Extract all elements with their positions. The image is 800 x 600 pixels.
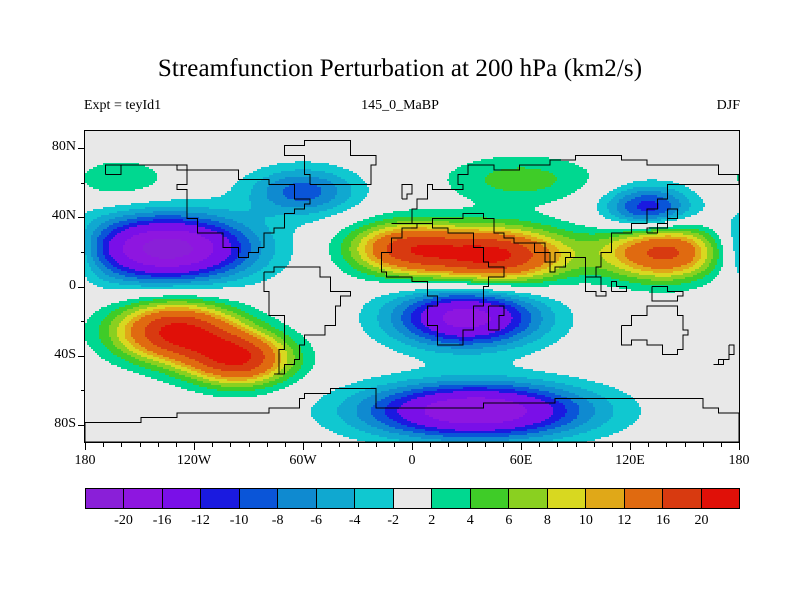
y-axis-tick (78, 287, 85, 288)
colorbar-tick-label: 12 (604, 513, 644, 529)
x-axis-tick (521, 443, 522, 450)
colorbar-swatch (86, 489, 123, 508)
colorbar-swatch (431, 489, 469, 508)
colorbar-tick-label: 10 (566, 513, 606, 529)
x-axis-minor-tick (121, 443, 122, 447)
colorbar-tick-label: 20 (681, 513, 721, 529)
x-axis-tick-label: 180 (55, 453, 115, 469)
x-axis-minor-tick (594, 443, 595, 447)
x-axis-minor-tick (158, 443, 159, 447)
x-axis-tick (630, 443, 631, 450)
colorbar-swatch (470, 489, 508, 508)
y-axis-minor-tick (81, 252, 85, 253)
colorbar-tick-label: 16 (643, 513, 683, 529)
colorbar-tick-label: 6 (489, 513, 529, 529)
y-axis-minor-tick (81, 183, 85, 184)
x-axis-tick-label: 0 (382, 453, 442, 469)
y-axis-tick-label: 0 (36, 278, 76, 294)
x-axis-minor-tick (648, 443, 649, 447)
y-axis-tick-label: 80N (36, 139, 76, 155)
x-axis-minor-tick (430, 443, 431, 447)
y-axis-tick (78, 148, 85, 149)
x-axis-minor-tick (721, 443, 722, 447)
y-axis-tick (78, 217, 85, 218)
colorbar-tick-label: -16 (142, 513, 182, 529)
y-axis-tick (78, 425, 85, 426)
colorbar-swatch (123, 489, 161, 508)
x-axis-minor-tick (321, 443, 322, 447)
x-axis-minor-tick (612, 443, 613, 447)
x-axis-tick-label: 180 (709, 453, 769, 469)
colorbar (85, 488, 740, 509)
x-axis-tick (739, 443, 740, 450)
figure-canvas: Streamfunction Perturbation at 200 hPa (… (0, 0, 800, 600)
x-axis-minor-tick (685, 443, 686, 447)
colorbar-swatch (508, 489, 546, 508)
x-axis-tick (412, 443, 413, 450)
colorbar-tick-label: 4 (450, 513, 490, 529)
colorbar-tick-label: -12 (181, 513, 221, 529)
x-axis-minor-tick (376, 443, 377, 447)
x-axis-minor-tick (448, 443, 449, 447)
colorbar-swatch (585, 489, 623, 508)
colorbar-tick-label: -6 (296, 513, 336, 529)
colorbar-swatch (277, 489, 315, 508)
colorbar-swatch (547, 489, 585, 508)
colorbar-tick-label: 8 (527, 513, 567, 529)
y-axis-tick-label: 80S (36, 416, 76, 432)
colorbar-tick-label: -20 (104, 513, 144, 529)
x-axis-minor-tick (103, 443, 104, 447)
colorbar-tick-label: -4 (335, 513, 375, 529)
y-axis-minor-tick (81, 390, 85, 391)
x-axis-minor-tick (339, 443, 340, 447)
x-axis-tick-label: 120W (164, 453, 224, 469)
x-axis-minor-tick (394, 443, 395, 447)
x-axis-minor-tick (576, 443, 577, 447)
x-axis-minor-tick (539, 443, 540, 447)
y-axis-minor-tick (81, 321, 85, 322)
x-axis-minor-tick (503, 443, 504, 447)
x-axis-minor-tick (467, 443, 468, 447)
colorbar-swatch (162, 489, 200, 508)
season-label: DJF (0, 98, 740, 114)
x-axis-minor-tick (285, 443, 286, 447)
colorbar-tick-label: 2 (412, 513, 452, 529)
map-plot-area (84, 130, 740, 443)
x-axis-minor-tick (557, 443, 558, 447)
y-axis-tick-label: 40S (36, 347, 76, 363)
x-axis-minor-tick (230, 443, 231, 447)
colorbar-swatch (316, 489, 354, 508)
y-axis-tick (78, 356, 85, 357)
x-axis-minor-tick (212, 443, 213, 447)
x-axis-minor-tick (358, 443, 359, 447)
x-axis-minor-tick (666, 443, 667, 447)
colorbar-swatch (200, 489, 238, 508)
contour-field (85, 131, 739, 442)
colorbar-swatch (662, 489, 700, 508)
x-axis-minor-tick (267, 443, 268, 447)
x-axis-minor-tick (485, 443, 486, 447)
colorbar-tick-label: -10 (219, 513, 259, 529)
x-axis-minor-tick (703, 443, 704, 447)
x-axis-tick (194, 443, 195, 450)
colorbar-tick-label: -2 (373, 513, 413, 529)
colorbar-swatch (701, 489, 739, 508)
x-axis-tick (85, 443, 86, 450)
x-axis-tick-label: 60E (491, 453, 551, 469)
x-axis-minor-tick (176, 443, 177, 447)
x-axis-tick-label: 120E (600, 453, 660, 469)
colorbar-swatch (354, 489, 392, 508)
colorbar-swatch (393, 489, 431, 508)
y-axis-tick-label: 40N (36, 208, 76, 224)
x-axis-minor-tick (249, 443, 250, 447)
x-axis-tick (303, 443, 304, 450)
x-axis-tick-label: 60W (273, 453, 333, 469)
x-axis-minor-tick (140, 443, 141, 447)
colorbar-swatch (624, 489, 662, 508)
page-title: Streamfunction Perturbation at 200 hPa (… (0, 55, 800, 83)
colorbar-swatch (239, 489, 277, 508)
colorbar-tick-label: -8 (258, 513, 298, 529)
